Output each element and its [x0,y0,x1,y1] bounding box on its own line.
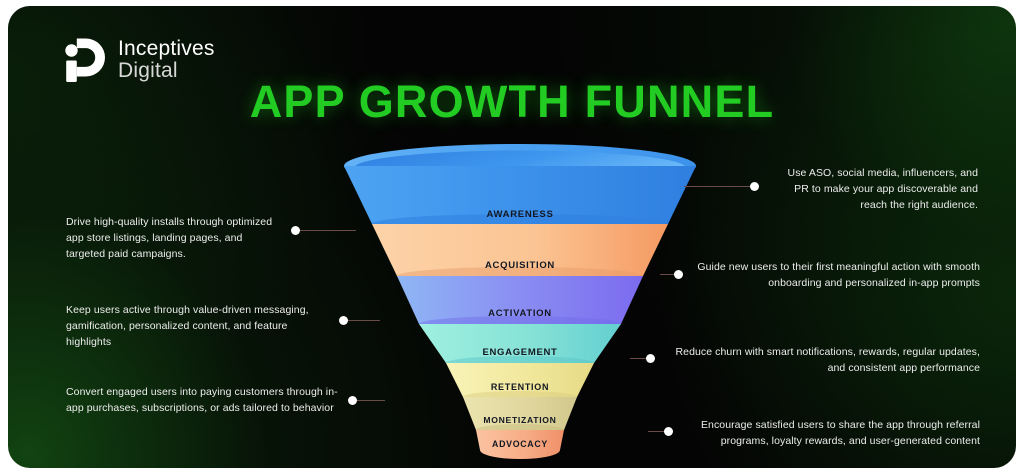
connector-awareness [684,186,750,187]
brand-line-1: Inceptives [118,38,215,60]
note-awareness: Use ASO, social media, influencers, and … [770,166,978,213]
connector-dot-advocacy [664,427,673,436]
connector-monetization [357,400,385,401]
connector-dot-awareness [750,182,759,191]
funnel-chart: AWARENESS ACQUISITION ACTIVATION ENGAGEM… [338,144,702,460]
page-title: APP GROWTH FUNNEL [8,76,1016,128]
connector-dot-activation [674,270,683,279]
connector-dot-monetization [348,396,357,405]
connector-dot-retention [646,354,655,363]
note-advocacy: Encourage satisfied users to share the a… [684,418,980,450]
infographic-canvas: Inceptives Digital APP GROWTH FUNNEL [0,0,1024,474]
funnel-label-engagement: ENGAGEMENT [482,347,557,358]
funnel-label-acquisition: ACQUISITION [485,260,555,271]
connector-dot-acquisition [291,226,300,235]
dark-card-background: Inceptives Digital APP GROWTH FUNNEL [8,6,1016,468]
note-acquisition: Drive high-quality installs through opti… [66,215,282,262]
funnel-label-monetization: MONETIZATION [483,415,556,425]
note-engagement: Keep users active through value-driven m… [66,303,332,350]
note-monetization: Convert engaged users into paying custom… [66,385,340,417]
connector-engagement [348,320,380,321]
funnel-label-awareness: AWARENESS [486,209,553,220]
funnel-label-activation: ACTIVATION [488,308,552,319]
note-activation: Guide new users to their first meaningfu… [692,260,980,292]
connector-acquisition [300,230,356,231]
funnel-label-retention: RETENTION [491,382,549,392]
note-retention: Reduce churn with smart notifications, r… [664,345,980,377]
connector-dot-engagement [339,316,348,325]
funnel-label-advocacy: ADVOCACY [492,439,548,449]
